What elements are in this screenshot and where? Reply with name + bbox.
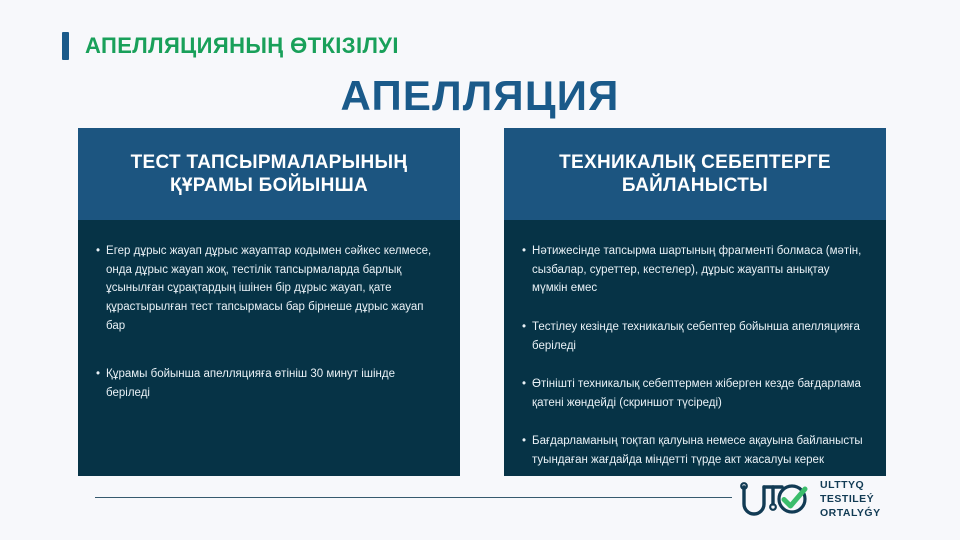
- list-item: • Егер дұрыс жауап дұрыс жауаптар кодыме…: [96, 242, 440, 335]
- logo-line-3: ORTALYǴY: [820, 506, 881, 520]
- logo-line-2: TESTILEÝ: [820, 492, 881, 506]
- page-title: АПЕЛЛЯЦИЯ: [0, 72, 960, 120]
- list-item: • Өтінішті техникалық себептермен жіберг…: [522, 375, 866, 412]
- list-item-text: Егер дұрыс жауап дұрыс жауаптар кодымен …: [106, 242, 440, 335]
- list-item-text: Тестілеу кезінде техникалық себептер бой…: [532, 318, 866, 355]
- cards-container: ТЕСТ ТАПСЫРМАЛАРЫНЫҢ ҚҰРАМЫ БОЙЫНША • Ег…: [78, 128, 886, 476]
- card-header: ТЕХНИКАЛЫҚ СЕБЕПТЕРГЕ БАЙЛАНЫСТЫ: [504, 128, 886, 220]
- footer-divider: [95, 497, 732, 498]
- uto-logo-icon: [737, 478, 811, 520]
- list-item-text: Нәтижесінде тапсырма шартының фрагменті …: [532, 242, 866, 298]
- list-item-text: Өтінішті техникалық себептермен жіберген…: [532, 375, 866, 412]
- logo-line-1: ULTTYQ: [820, 478, 881, 492]
- logo-wordmark: ULTTYQ TESTILEÝ ORTALYǴY: [820, 478, 881, 520]
- bullet-dot-icon: •: [96, 365, 100, 402]
- bullet-dot-icon: •: [96, 242, 100, 335]
- bullet-dot-icon: •: [522, 432, 526, 469]
- card-test-content: ТЕСТ ТАПСЫРМАЛАРЫНЫҢ ҚҰРАМЫ БОЙЫНША • Ег…: [78, 128, 460, 476]
- kicker-accent-bar: [62, 32, 69, 60]
- list-item-text: Бағдарламаның тоқтап қалуына немесе ақау…: [532, 432, 866, 469]
- kicker-label: АПЕЛЛЯЦИЯНЫҢ ӨТКІЗІЛУІ: [85, 33, 399, 59]
- bullet-dot-icon: •: [522, 375, 526, 412]
- card-header-label: ТЕСТ ТАПСЫРМАЛАРЫНЫҢ ҚҰРАМЫ БОЙЫНША: [96, 151, 442, 197]
- card-technical-reasons: ТЕХНИКАЛЫҚ СЕБЕПТЕРГЕ БАЙЛАНЫСТЫ • Нәтиж…: [504, 128, 886, 476]
- logo: ULTTYQ TESTILEÝ ORTALYǴY: [737, 478, 881, 520]
- slide-root: АПЕЛЛЯЦИЯНЫҢ ӨТКІЗІЛУІ АПЕЛЛЯЦИЯ ТЕСТ ТА…: [0, 0, 960, 540]
- card-header: ТЕСТ ТАПСЫРМАЛАРЫНЫҢ ҚҰРАМЫ БОЙЫНША: [78, 128, 460, 220]
- list-item: • Құрамы бойынша апелляцияға өтініш 30 м…: [96, 365, 440, 402]
- card-body: • Нәтижесінде тапсырма шартының фрагмент…: [504, 220, 886, 476]
- bullet-dot-icon: •: [522, 242, 526, 298]
- card-body: • Егер дұрыс жауап дұрыс жауаптар кодыме…: [78, 220, 460, 476]
- list-item: • Тестілеу кезінде техникалық себептер б…: [522, 318, 866, 355]
- list-item-text: Құрамы бойынша апелляцияға өтініш 30 мин…: [106, 365, 440, 402]
- list-item: • Бағдарламаның тоқтап қалуына немесе ақ…: [522, 432, 866, 469]
- list-item: • Нәтижесінде тапсырма шартының фрагмент…: [522, 242, 866, 298]
- kicker: АПЕЛЛЯЦИЯНЫҢ ӨТКІЗІЛУІ: [62, 32, 399, 60]
- bullet-dot-icon: •: [522, 318, 526, 355]
- card-header-label: ТЕХНИКАЛЫҚ СЕБЕПТЕРГЕ БАЙЛАНЫСТЫ: [522, 151, 868, 197]
